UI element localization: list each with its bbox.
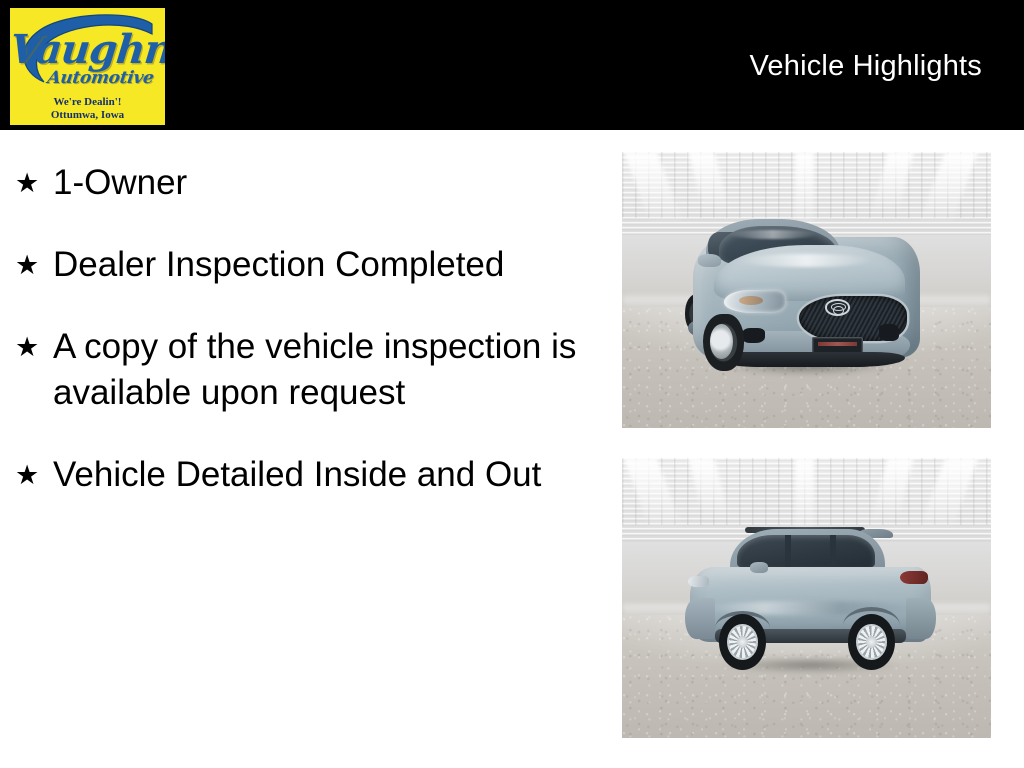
headlight <box>688 576 708 587</box>
star-bullet-icon: ★ <box>15 160 39 206</box>
list-item-label: Vehicle Detailed Inside and Out <box>53 455 541 494</box>
headlight-amber <box>739 296 762 305</box>
rear-bumper <box>906 598 936 639</box>
vehicle-photo-side <box>622 458 991 738</box>
studio-scene <box>622 458 991 738</box>
side-mirror <box>750 562 768 573</box>
dealer-logo: Vaughn Automotive We're Dealin'! Ottumwa… <box>10 8 165 125</box>
side-mirror <box>698 254 721 267</box>
logo-subname: Automotive <box>10 70 165 87</box>
rear-wheel-rim <box>856 624 887 660</box>
taillight <box>900 571 928 584</box>
star-bullet-icon: ★ <box>15 452 39 498</box>
star-bullet-icon: ★ <box>15 242 39 288</box>
studio-scene <box>622 152 991 428</box>
front-wheel <box>719 614 767 670</box>
list-item-label: Dealer Inspection Completed <box>53 245 504 284</box>
list-item: ★ A copy of the vehicle inspection is av… <box>13 324 605 416</box>
logo-tagline-line1: We're Dealin'! <box>10 96 165 109</box>
list-item: ★ 1-Owner <box>13 160 605 206</box>
b-pillar <box>785 535 791 568</box>
logo-tagline-line2: Ottumwa, Iowa <box>10 109 165 122</box>
suv-side-view <box>685 520 936 677</box>
c-pillar <box>830 535 836 568</box>
vehicle-photo-front <box>622 152 991 428</box>
front-bumper <box>685 598 715 639</box>
list-item-label: 1-Owner <box>53 163 187 202</box>
logo-name: Vaughn <box>10 30 165 70</box>
page-title: Vehicle Highlights <box>749 50 982 83</box>
front-wheel-rim <box>727 624 758 660</box>
list-item: ★ Vehicle Detailed Inside and Out <box>13 452 605 498</box>
list-item-label: A copy of the vehicle inspection is avai… <box>53 327 576 412</box>
vehicle-highlights-slide: Vehicle Highlights Vaughn Automotive We'… <box>0 0 1024 768</box>
highlights-list: ★ 1-Owner ★ Dealer Inspection Completed … <box>13 160 605 498</box>
list-item: ★ Dealer Inspection Completed <box>13 242 605 288</box>
fog-light-left <box>742 328 765 343</box>
logo-tagline: We're Dealin'! Ottumwa, Iowa <box>10 96 165 122</box>
front-wheel-rim <box>710 324 733 360</box>
fog-light-right <box>879 324 900 341</box>
star-bullet-icon: ★ <box>15 324 39 370</box>
suv-front-view <box>677 196 935 384</box>
